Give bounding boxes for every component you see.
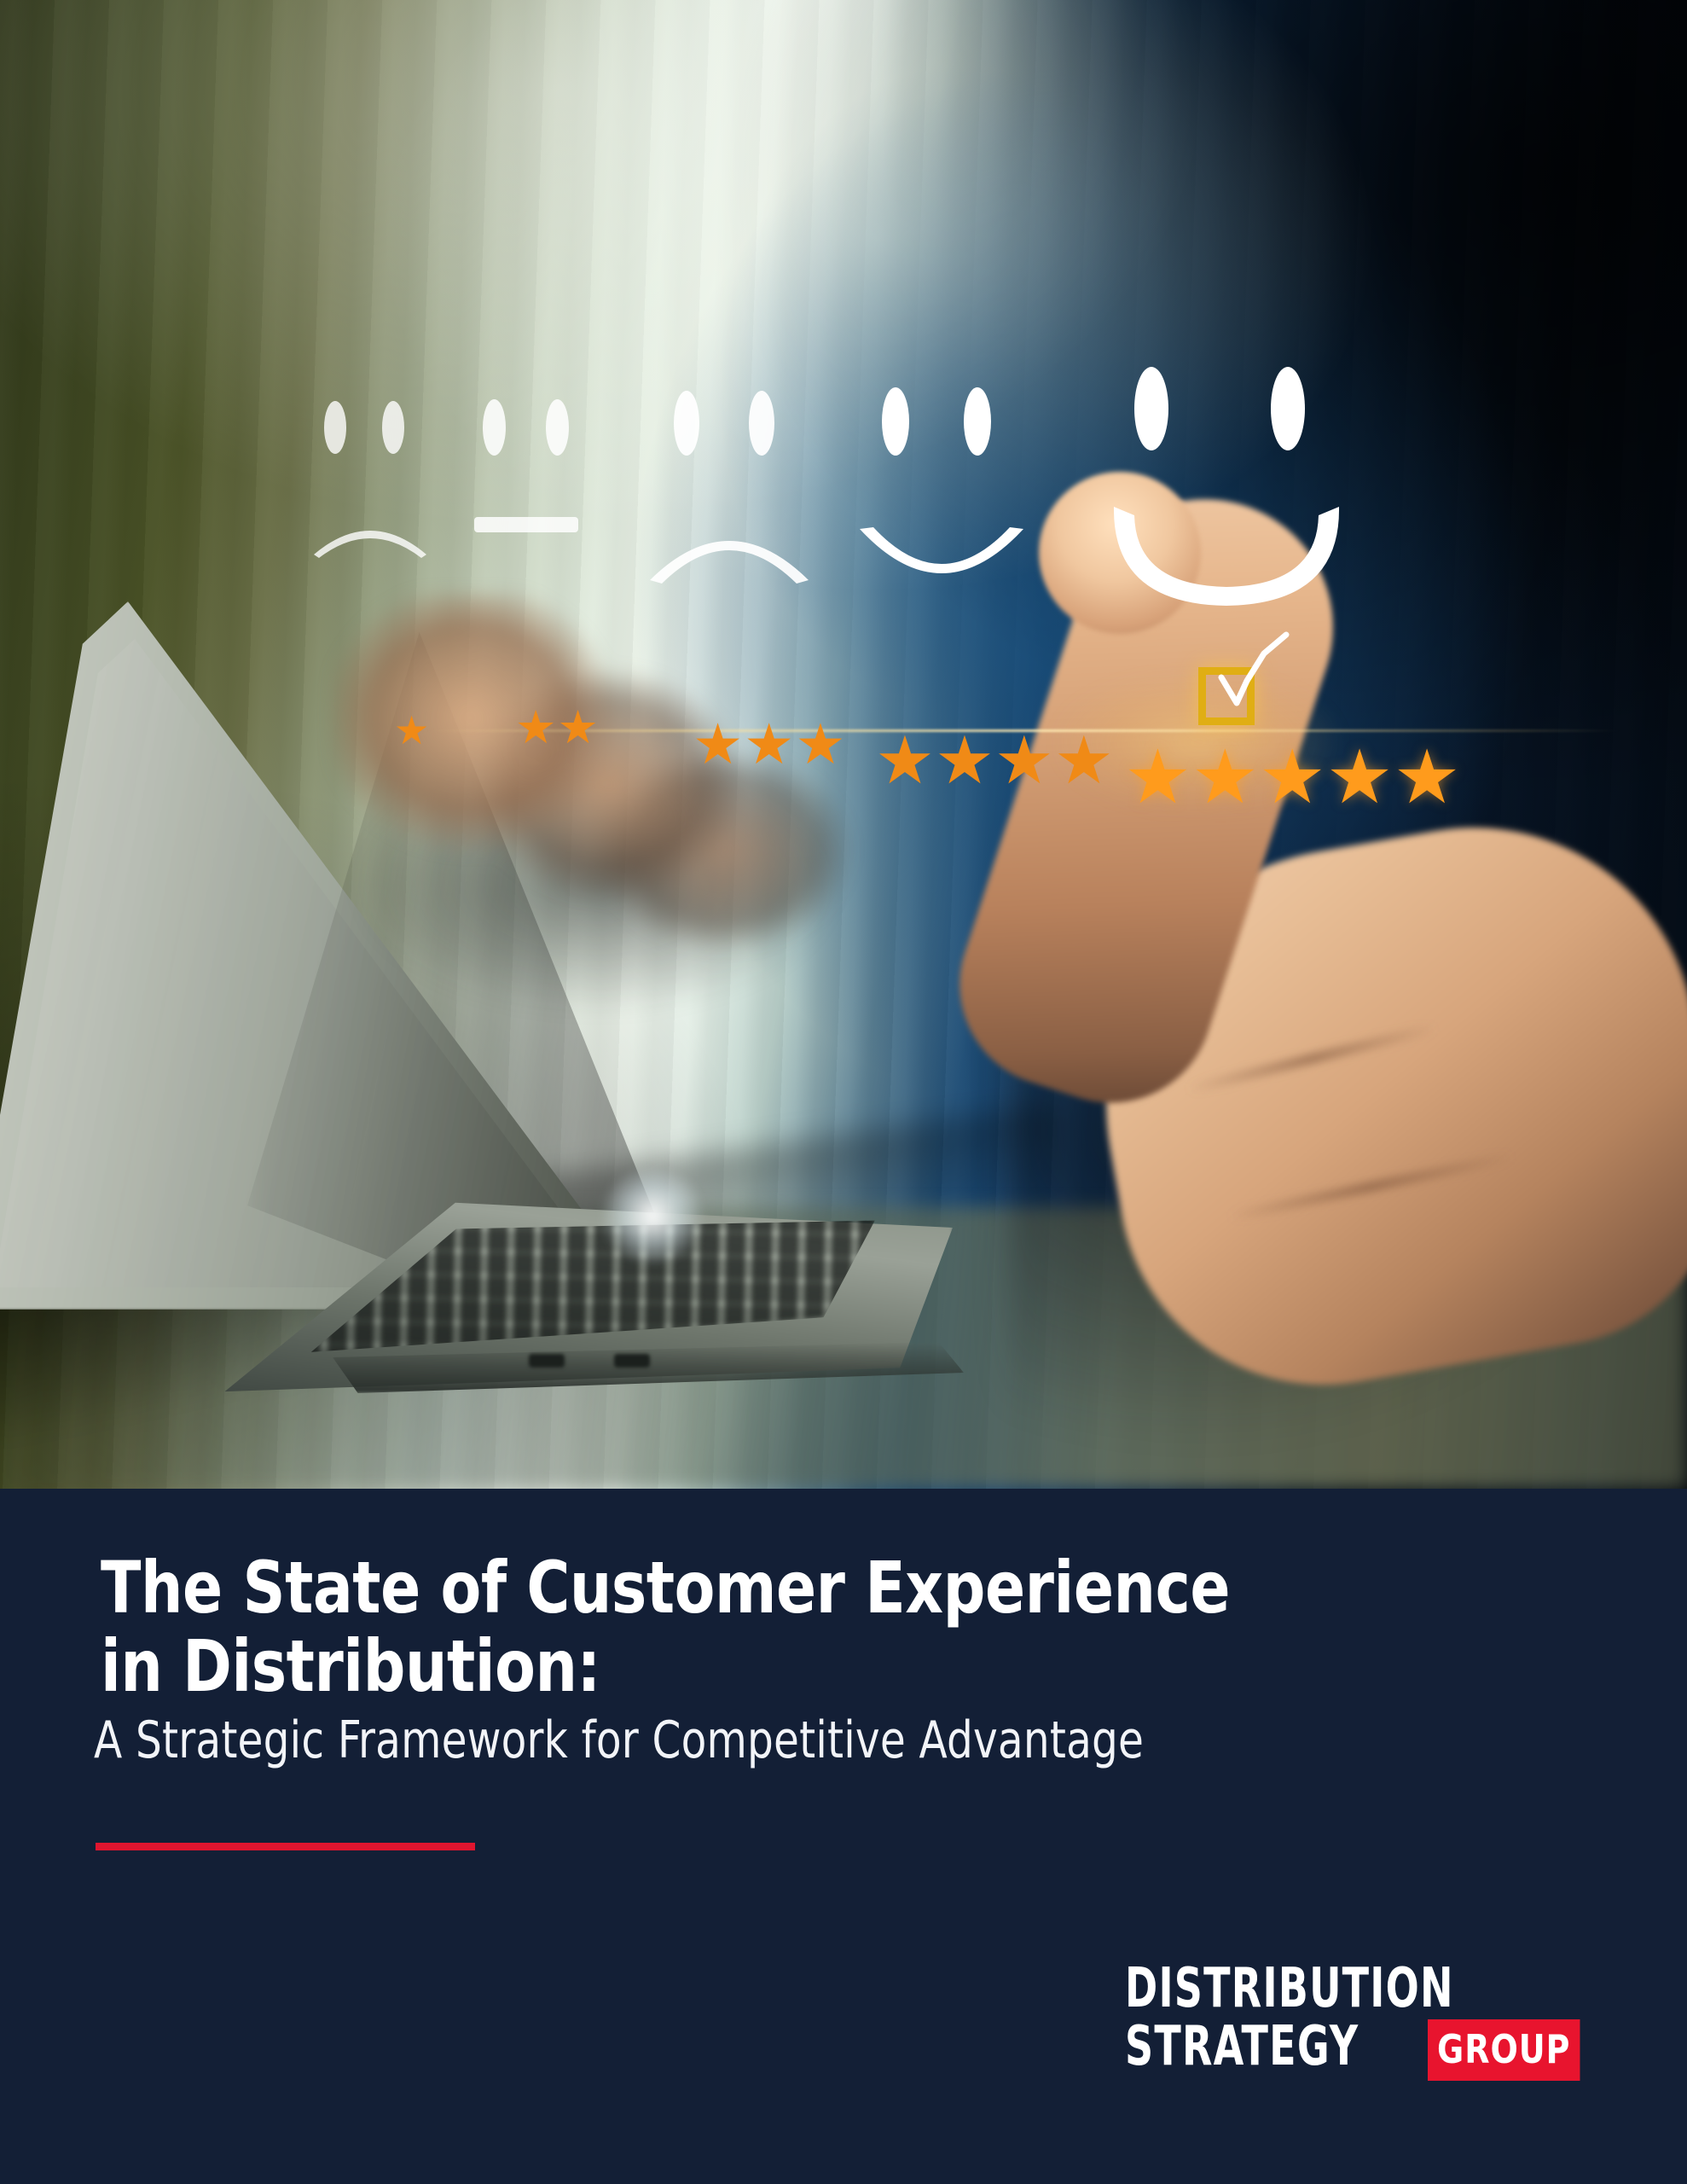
laptop-port-right — [614, 1354, 650, 1368]
star-glyph: ★ — [693, 722, 743, 767]
star-glyph: ★ — [1124, 747, 1191, 807]
logo-group-badge: GROUP — [1428, 2019, 1580, 2081]
hero-photo: ★ ★ ★ ★ ★ ★ ★ ★ ★ ★ ★ ★ ★ ★ ★ — [0, 0, 1687, 1489]
page-subtitle: A Strategic Framework for Competitive Ad… — [94, 1712, 1399, 1769]
star-glyph: ★ — [1054, 734, 1114, 787]
accent-rule — [96, 1843, 475, 1850]
star-glyph: ★ — [935, 734, 994, 787]
page-title: The State of Customer Experience in Dist… — [101, 1548, 1435, 1706]
report-cover-page: ★ ★ ★ ★ ★ ★ ★ ★ ★ ★ ★ ★ ★ ★ ★ The State … — [0, 0, 1687, 2184]
star-glyph: ★ — [875, 734, 935, 787]
star-glyph: ★ — [744, 722, 794, 767]
star-glyph: ★ — [515, 710, 556, 746]
laptop-screen-glow — [597, 1169, 708, 1263]
logo-distribution-text: DISTRIBUTION — [1125, 1962, 1499, 2016]
title-line-2: in Distribution: — [101, 1627, 1435, 1705]
star-rating-5[interactable]: ★ ★ ★ ★ ★ — [1124, 747, 1460, 807]
star-glyph: ★ — [394, 715, 429, 746]
typing-hand — [333, 593, 861, 960]
checkmark-icon — [1197, 631, 1300, 734]
logo-strategy-text: STRATEGY — [1125, 2019, 1359, 2081]
star-glyph: ★ — [994, 734, 1054, 787]
logo-bottom-row: STRATEGY GROUP — [1125, 2019, 1593, 2081]
star-glyph: ★ — [1394, 747, 1461, 807]
laptop-port-left — [529, 1354, 565, 1368]
star-glyph: ★ — [1259, 747, 1326, 807]
brand-logo[interactable]: DISTRIBUTION STRATEGY GROUP — [1125, 1962, 1593, 2081]
star-glyph: ★ — [1191, 747, 1259, 807]
star-rating-2[interactable]: ★ ★ — [515, 710, 599, 746]
star-rating-4[interactable]: ★ ★ ★ ★ — [875, 734, 1114, 787]
pointing-hand — [783, 363, 1687, 1489]
star-glyph: ★ — [1326, 747, 1394, 807]
star-rating-1[interactable]: ★ — [394, 715, 429, 746]
star-glyph: ★ — [557, 710, 598, 746]
star-rating-3[interactable]: ★ ★ ★ — [693, 722, 846, 767]
title-line-1: The State of Customer Experience — [101, 1548, 1435, 1627]
title-panel: The State of Customer Experience in Dist… — [0, 1489, 1687, 2184]
star-glyph: ★ — [795, 722, 845, 767]
